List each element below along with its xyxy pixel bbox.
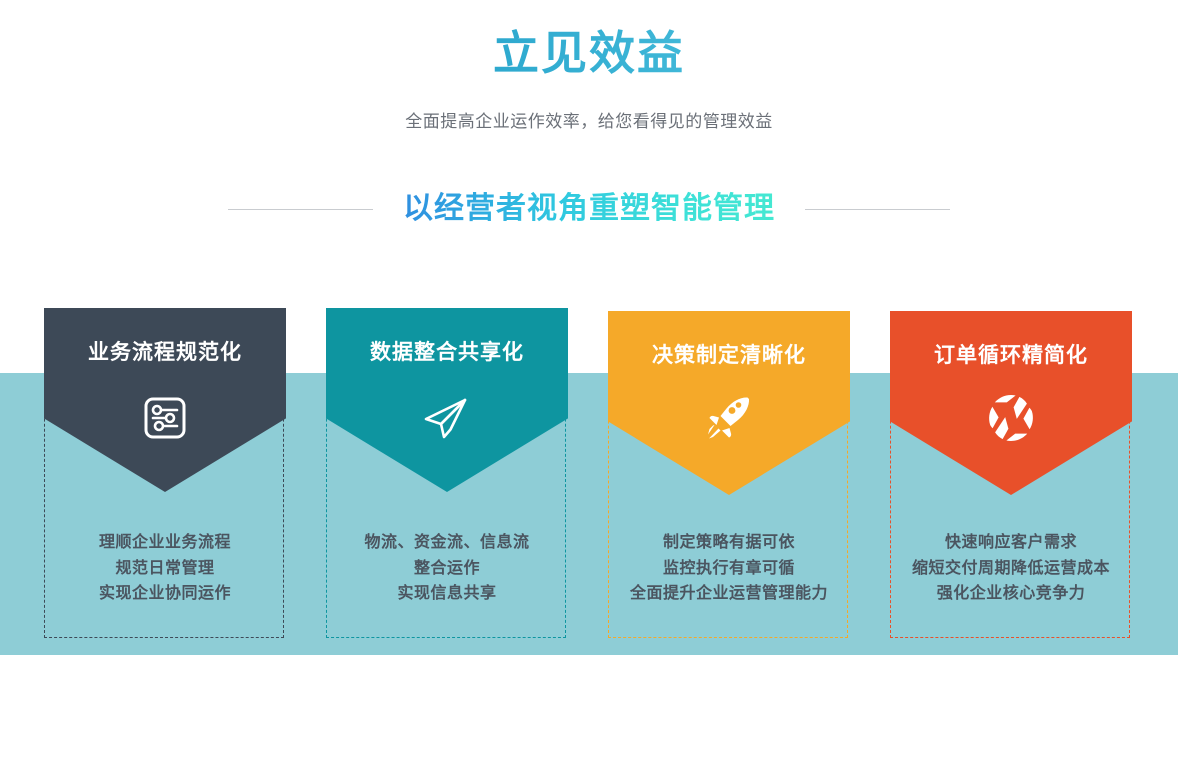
- card-description-3: 制定策略有据可依 监控执行有章可循 全面提升企业运营管理能力: [608, 530, 850, 607]
- rocket-icon: [608, 392, 850, 444]
- card-title-4: 订单循环精简化: [890, 339, 1132, 369]
- card-desc-line: 规范日常管理: [44, 556, 286, 582]
- card-title-3: 决策制定清晰化: [608, 339, 850, 369]
- card-title-1: 业务流程规范化: [44, 336, 286, 366]
- card-desc-line: 制定策略有据可依: [608, 530, 850, 556]
- aperture-icon: [890, 392, 1132, 444]
- card-desc-line: 实现信息共享: [326, 581, 568, 607]
- card-desc-line: 实现企业协同运作: [44, 581, 286, 607]
- card-title-2: 数据整合共享化: [326, 336, 568, 366]
- card-desc-line: 强化企业核心竞争力: [890, 581, 1132, 607]
- card-desc-line: 缩短交付周期降低运营成本: [890, 556, 1132, 582]
- card-desc-line: 快速响应客户需求: [890, 530, 1132, 556]
- card-desc-line: 全面提升企业运营管理能力: [608, 581, 850, 607]
- card-desc-line: 理顺企业业务流程: [44, 530, 286, 556]
- benefits-section: 立见效益 全面提高企业运作效率，给您看得见的管理效益 以经营者视角重塑智能管理 …: [0, 0, 1178, 771]
- card-desc-line: 物流、资金流、信息流: [326, 530, 568, 556]
- card-description-4: 快速响应客户需求 缩短交付周期降低运营成本 强化企业核心竞争力: [890, 530, 1132, 607]
- paper-plane-icon: [326, 393, 568, 443]
- card-desc-line: 整合运作: [326, 556, 568, 582]
- sliders-icon: [44, 393, 286, 443]
- card-description-1: 理顺企业业务流程 规范日常管理 实现企业协同运作: [44, 530, 286, 607]
- feature-card-list: 业务流程规范化 理顺企业业务流程 规范日常管理 实现企业协同运作: [0, 0, 1178, 771]
- card-description-2: 物流、资金流、信息流 整合运作 实现信息共享: [326, 530, 568, 607]
- card-desc-line: 监控执行有章可循: [608, 556, 850, 582]
